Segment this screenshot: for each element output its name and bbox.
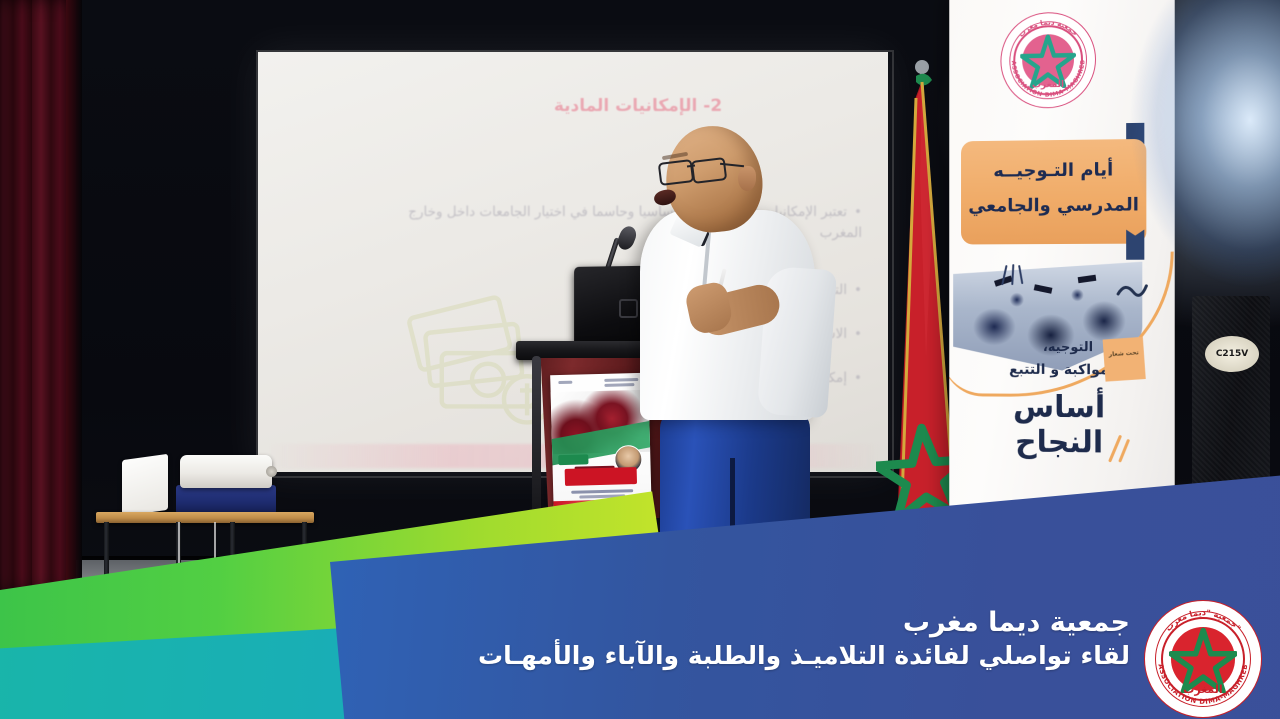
speaker-ear bbox=[738, 166, 756, 191]
brand-text-block: جمعية ديما مغرب لقاء تواصلي لفائدة التلا… bbox=[440, 606, 1130, 672]
svg-text:جمعية ديما مغرب: جمعية ديما مغرب bbox=[1017, 17, 1080, 39]
rollup-association-logo: جمعية ديما مغرب ASSOCIATION DIMA-MAGHREB… bbox=[1000, 11, 1096, 109]
eyeglasses-right-lens bbox=[691, 157, 728, 184]
svg-text:جمعية "ديما مغرب": جمعية "ديما مغرب" bbox=[1163, 607, 1243, 633]
poster-badge bbox=[558, 454, 588, 465]
eyeglasses-left-lens bbox=[658, 159, 695, 186]
speaker-model-label: C215V bbox=[1205, 336, 1259, 372]
sticky-note-text: تحت شعار bbox=[1105, 349, 1142, 358]
rollup-title-line-1: أيام التـوجيــه bbox=[961, 159, 1146, 182]
laptop-lid-on-table bbox=[122, 454, 168, 516]
conference-photo-scene: 2- الإمكانيات المادية تعتبر الإمكانيات ا… bbox=[0, 0, 1280, 719]
slide-title: 2- الإمكانيات المادية bbox=[428, 96, 848, 116]
rollup-title-box: أيام التـوجيــه المدرسي والجامعي bbox=[961, 139, 1146, 245]
projector-stand bbox=[176, 485, 276, 513]
brand-org-name: جمعية ديما مغرب bbox=[440, 606, 1130, 640]
seal-arc-text: جمعية "ديما مغرب" ASSOCIATION DIMA-MAGHR… bbox=[1144, 600, 1262, 718]
seal-center-word: المغرب bbox=[1000, 79, 1096, 91]
projector-lens bbox=[266, 466, 277, 477]
sticky-note: تحت شعار bbox=[1103, 337, 1146, 382]
sparkle-lines-icon bbox=[996, 262, 1030, 288]
seal-arc-text: جمعية ديما مغرب ASSOCIATION DIMA-MAGHREB bbox=[1000, 11, 1096, 109]
poster-logo-mark bbox=[558, 381, 572, 384]
squiggle-icon bbox=[1116, 280, 1148, 302]
curtain-edge-shadow bbox=[66, 0, 82, 596]
brand-association-logo: جمعية "ديما مغرب" ASSOCIATION DIMA-MAGHR… bbox=[1144, 600, 1262, 718]
seal-center-word: المغرب bbox=[1144, 683, 1262, 696]
rollup-title-line-2: المدرسي والجامعي bbox=[961, 194, 1146, 216]
accent-strokes-icon bbox=[1106, 430, 1132, 464]
projector bbox=[180, 455, 272, 488]
brand-event-subtitle: لقاء تواصلي لفائدة التلاميـذ والطلبة وال… bbox=[440, 640, 1130, 673]
red-curtain bbox=[0, 0, 76, 596]
